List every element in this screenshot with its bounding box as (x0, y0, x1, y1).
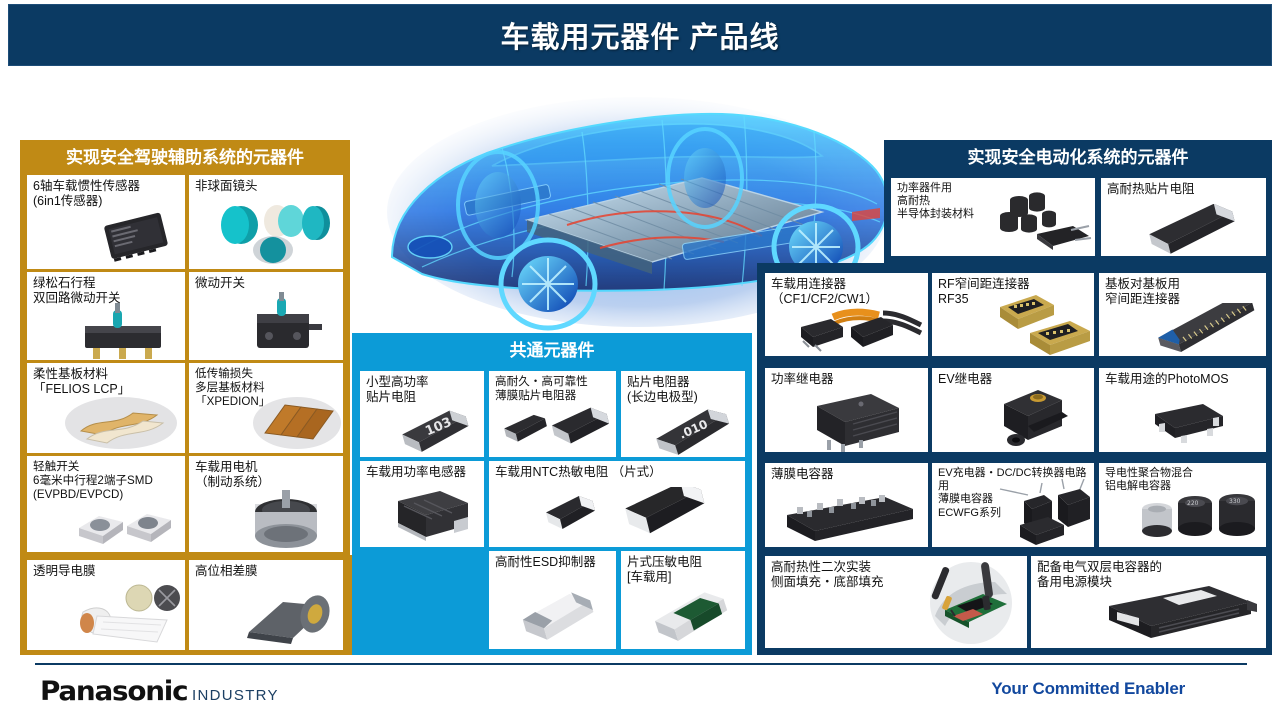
svg-text:220: 220 (1187, 500, 1199, 507)
product-card[interactable]: 低传输损失 多层基板材料 「XPEDION」 (189, 363, 343, 453)
chip-resistor-010-icon: .010 (643, 403, 743, 455)
backup-power-module-icon (1089, 580, 1261, 646)
product-caption: 贴片电阻器 (长边电极型) (627, 375, 741, 405)
product-caption: 高耐热贴片电阻 (1107, 182, 1262, 197)
product-card[interactable]: 配备电气双层电容器的 备用电源模块 (1031, 556, 1266, 648)
heat-resistant-chip-resistor-icon (1135, 204, 1253, 254)
product-card[interactable]: 车载用连接器 （CF1/CF2/CW1） (765, 273, 928, 356)
product-card[interactable]: 小型高功率 贴片电阻 103 (360, 371, 484, 457)
ic-chip-icon (89, 207, 181, 265)
slide-header: 车载用元器件 产品线 (8, 4, 1272, 66)
ev-relay-icon (982, 380, 1090, 452)
brake-motor-icon (241, 486, 339, 552)
rf-narrow-pitch-connector-icon (988, 287, 1092, 355)
product-card[interactable]: 6轴车载惯性传感器 (6in1传感器) (27, 175, 185, 269)
product-card[interactable]: EV继电器 (932, 368, 1094, 452)
product-card[interactable]: 高耐热性二次实装 侧面填充・底部填充 (765, 556, 1027, 648)
product-card[interactable]: 高耐性ESD抑制器 (489, 551, 616, 649)
adas-panel-title: 实现安全驾驶辅助系统的元器件 (20, 140, 350, 170)
product-caption: 高耐性ESD抑制器 (495, 555, 612, 570)
product-caption: 片式压敏电阻 [车载用] (627, 555, 741, 585)
photomos-relay-icon (1137, 396, 1247, 448)
product-caption: 高耐久・高可靠性 薄膜贴片电阻器 (495, 375, 612, 403)
product-card[interactable]: 高耐热贴片电阻 (1101, 178, 1266, 256)
film-capacitor-block-icon (773, 487, 923, 545)
thin-film-chip-resistors-icon (497, 405, 613, 455)
panasonic-wordmark: Panasonic (40, 676, 187, 707)
product-card[interactable]: 功率继电器 (765, 368, 928, 452)
product-card[interactable]: 导电性聚合物混合 铝电解电容器 220 330 (1099, 463, 1266, 547)
power-inductor-icon (384, 481, 478, 545)
product-card[interactable]: 微动开关 (189, 272, 343, 360)
product-card[interactable]: 功率器件用 高耐热 半导体封装材料 (891, 178, 1095, 256)
power-relay-icon (797, 388, 913, 452)
micro-switch-icon (233, 292, 337, 356)
multilayer-substrate-sheets-icon (251, 391, 343, 451)
industry-wordmark: INDUSTRY (192, 687, 279, 704)
product-caption: 透明导电膜 (33, 564, 181, 579)
product-caption: 高位相差膜 (195, 564, 339, 579)
electrification-panel-title: 实现安全电动化系统的元器件 (884, 140, 1272, 171)
product-caption: 6轴车载惯性传感器 (6in1传感器) (33, 179, 181, 209)
product-card[interactable]: 绿松石行程 双回路微动开关 (27, 272, 185, 360)
hybrid-aluminum-capacitors-icon: 220 330 (1133, 489, 1261, 547)
svg-text:330: 330 (1229, 498, 1241, 505)
product-card[interactable]: 车载用功率电感器 (360, 461, 484, 547)
product-caption: 微动开关 (195, 276, 339, 291)
product-caption: 非球面镜头 (195, 179, 339, 194)
product-card[interactable]: 轻触开关 6毫米中行程2端子SMD (EVPBD/EVPCD) (27, 456, 185, 552)
product-card[interactable]: 车载用途的PhotoMOS (1099, 368, 1266, 452)
product-card[interactable]: RF窄间距连接器 RF35 (932, 273, 1094, 356)
product-card[interactable]: 高位相差膜 (189, 560, 343, 650)
underfill-dispensing-icon (921, 560, 1021, 646)
product-card[interactable]: 车载用电机 （制动系统） (189, 456, 343, 552)
slide-root: 车载用元器件 产品线 (0, 0, 1280, 720)
retardation-film-roll-icon (231, 584, 341, 648)
product-card[interactable]: 基板对基板用 窄间距连接器 (1099, 273, 1266, 356)
common-components-panel-title: 共通元器件 (352, 333, 752, 364)
product-card[interactable]: 薄膜电容器 (765, 463, 928, 547)
flexible-substrate-film-icon (61, 393, 179, 451)
chip-resistor-103-icon: 103 (388, 403, 484, 455)
product-caption: 车载用NTC热敏电阻 （片式） (495, 465, 741, 480)
semiconductor-encapsulants-icon (989, 186, 1093, 254)
product-caption: 车载用途的PhotoMOS (1105, 372, 1262, 387)
product-caption: 功率继电器 (771, 372, 924, 387)
esd-suppressor-icon (509, 585, 613, 645)
product-card[interactable]: 柔性基板材料 「FELIOS LCP」 (27, 363, 185, 453)
ecwfg-film-capacitors-icon (994, 479, 1094, 547)
ntc-thermistors-icon (537, 487, 727, 545)
automotive-connectors-icon (787, 307, 923, 355)
product-caption: 车载用连接器 （CF1/CF2/CW1） (771, 277, 924, 307)
board-to-board-connector-icon (1147, 303, 1265, 353)
aspheric-lenses-icon (205, 197, 335, 267)
dual-circuit-microswitch-icon (67, 298, 183, 360)
product-card[interactable]: 透明导电膜 (27, 560, 185, 650)
product-caption: 薄膜电容器 (771, 467, 924, 482)
chip-varistor-icon (643, 587, 743, 645)
brand-lockup: Panasonic INDUSTRY (40, 676, 279, 707)
product-caption: 小型高功率 贴片电阻 (366, 375, 480, 405)
tact-switches-icon (69, 500, 181, 550)
product-card[interactable]: 高耐久・高可靠性 薄膜贴片电阻器 (489, 371, 616, 457)
product-card[interactable]: 车载用NTC热敏电阻 （片式） (489, 461, 745, 547)
footer-divider (35, 663, 1247, 665)
page-title: 车载用元器件 产品线 (500, 14, 779, 56)
tagline: Your Committed Enabler (991, 679, 1185, 699)
product-card[interactable]: 片式压敏电阻 [车载用] (621, 551, 745, 649)
product-caption: 车载用功率电感器 (366, 465, 480, 480)
product-card[interactable]: 贴片电阻器 (长边电极型) .010 (621, 371, 745, 457)
transparent-conductive-film-icon (63, 582, 181, 648)
product-caption: 轻触开关 6毫米中行程2端子SMD (EVPBD/EVPCD) (33, 460, 181, 502)
product-card[interactable]: 非球面镜头 (189, 175, 343, 269)
product-card[interactable]: EV充电器・DC/DC转换器电路用 薄膜电容器 ECWFG系列 (932, 463, 1094, 547)
